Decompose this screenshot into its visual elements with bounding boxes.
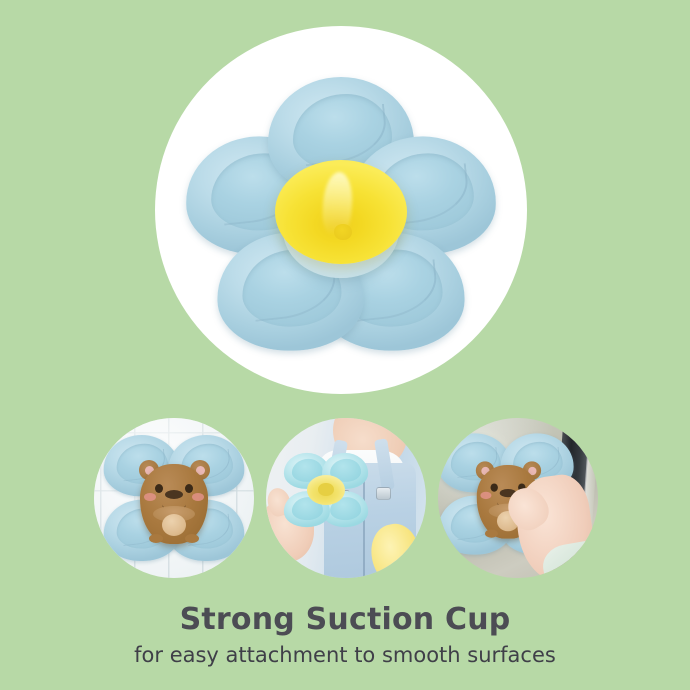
product-feature-poster: Strong Suction Cup for easy attachment t… xyxy=(0,0,690,690)
thumbnail-child-holding-spinner[interactable] xyxy=(266,418,426,578)
overall-buckle-right xyxy=(376,487,391,500)
caption-subtitle: for easy attachment to smooth surfaces xyxy=(0,640,690,670)
bear-eye-left xyxy=(491,483,498,491)
thumb2-yellow-center xyxy=(307,475,345,505)
thumbnail-bear-on-window[interactable] xyxy=(438,418,598,578)
yellow-suction-cup xyxy=(275,160,407,264)
caption-block: Strong Suction Cup for easy attachment t… xyxy=(0,602,690,670)
hero-stage xyxy=(155,26,527,394)
hero-product-image xyxy=(155,26,527,394)
bear-eye-left xyxy=(155,484,163,493)
caption-title: Strong Suction Cup xyxy=(0,602,690,638)
bear-eye-right xyxy=(185,484,193,493)
bear-belly xyxy=(162,514,186,536)
bear-foot-right xyxy=(185,534,199,543)
bear-foot-left xyxy=(485,529,498,537)
thumbnail-bear-on-tile-wall[interactable] xyxy=(94,418,254,578)
thumbnail-row xyxy=(94,418,598,578)
bear-foot-left xyxy=(149,534,163,543)
bear-cheek-left xyxy=(144,493,156,501)
bear-cheek-left xyxy=(480,492,491,499)
bear-cheek-right xyxy=(192,493,204,501)
